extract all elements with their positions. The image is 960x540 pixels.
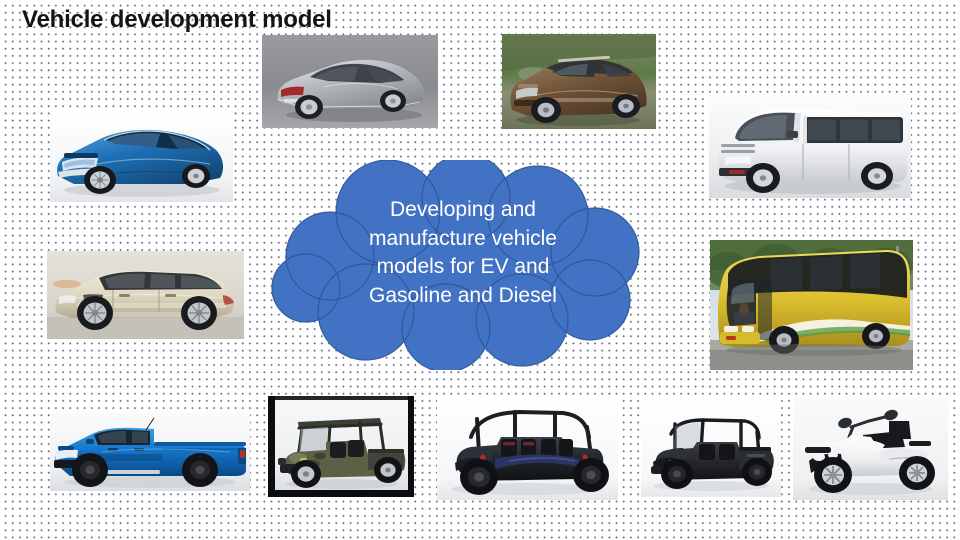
- atv-icon: [793, 397, 948, 500]
- cloud-line-2: manufacture vehicle: [322, 225, 604, 254]
- photo-ranger-utv[interactable]: [641, 400, 781, 497]
- page-title: Vehicle development model: [22, 6, 332, 34]
- slide-canvas: Vehicle development model: [0, 0, 960, 540]
- pickup-truck-icon: [50, 412, 250, 491]
- car-sedan-icon: [262, 35, 438, 128]
- photo-white-van[interactable]: [709, 94, 911, 198]
- photo-camo-utv[interactable]: [268, 396, 414, 497]
- photo-sport-utv[interactable]: [437, 397, 618, 500]
- photo-brown-suv[interactable]: [502, 34, 656, 129]
- photo-beige-suv[interactable]: [47, 251, 244, 339]
- utv-sport-icon: [437, 397, 618, 500]
- photo-yellow-coach[interactable]: [710, 240, 913, 370]
- photo-blue-pickup[interactable]: [50, 412, 250, 491]
- van-icon: [709, 94, 911, 198]
- photo-blue-sedan[interactable]: [50, 110, 233, 202]
- photo-white-atv[interactable]: [793, 397, 948, 500]
- utv-icon: [268, 396, 414, 497]
- car-suv-icon: [502, 34, 656, 129]
- cloud-callout-text: Developing and manufacture vehicle model…: [322, 196, 604, 310]
- bus-icon: [710, 240, 913, 370]
- photo-silver-sedan[interactable]: [262, 35, 438, 128]
- cloud-line-3: models for EV and: [322, 253, 604, 282]
- car-sedan-icon: [50, 110, 233, 202]
- utv-icon: [641, 400, 781, 497]
- cloud-line-1: Developing and: [322, 196, 604, 225]
- car-suv-icon: [47, 251, 244, 339]
- cloud-callout[interactable]: Developing and manufacture vehicle model…: [270, 160, 655, 370]
- cloud-line-4: Gasoline and Diesel: [322, 282, 604, 311]
